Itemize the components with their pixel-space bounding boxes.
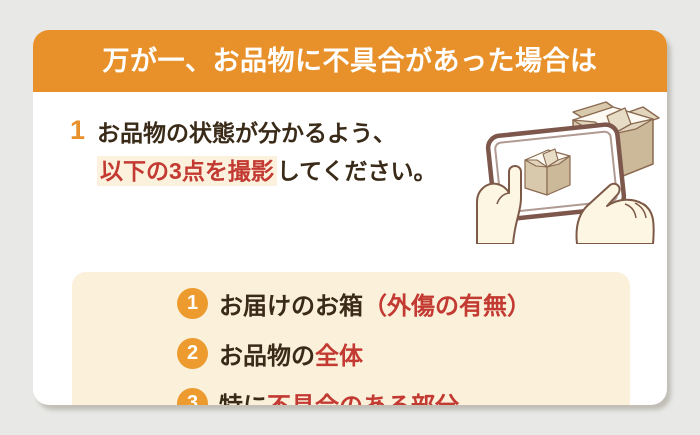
item-badge-1: 1 <box>177 288 208 319</box>
list-item: 1 お届けのお箱（外傷の有無） <box>72 278 630 328</box>
card-header: 万が一、お品物に不具合があった場合は <box>33 30 667 92</box>
step-line-2: 以下の3点を撮影してください。 <box>97 152 436 190</box>
item-badge-2: 2 <box>177 338 208 369</box>
list-item: 2 お品物の全体 <box>72 328 630 378</box>
item-text-3: 特に不具合のある部分 <box>219 386 459 406</box>
step-lines: お品物の状態が分かるよう、 以下の3点を撮影してください。 <box>97 114 436 190</box>
step-line-1: お品物の状態が分かるよう、 <box>97 114 436 152</box>
item-badge-3: 3 <box>177 388 208 406</box>
list-item: 3 特に不具合のある部分 <box>72 378 630 405</box>
item-text-2: お品物の全体 <box>219 336 363 371</box>
illustration-hands-tablet-box <box>473 94 663 244</box>
step-number: 1 <box>70 114 85 146</box>
card-body: 1 お品物の状態が分かるよう、 以下の3点を撮影してください。 1 お届けのお箱… <box>33 92 667 405</box>
item-3-accent: 不具合のある部分 <box>267 393 459 406</box>
step-1-block: 1 お品物の状態が分かるよう、 以下の3点を撮影してください。 <box>70 114 436 190</box>
item-1-plain-lead: お届けのお箱 <box>219 293 363 320</box>
item-3-plain-lead: 特に <box>219 393 267 406</box>
page-title: 万が一、お品物に不具合があった場合は <box>103 48 598 75</box>
info-card: 万が一、お品物に不具合があった場合は <box>33 30 667 405</box>
step-line-2-tail: してください。 <box>277 158 437 184</box>
step-highlight-text: 以下の3点を撮影 <box>97 156 277 186</box>
item-text-1: お届けのお箱（外傷の有無） <box>219 286 531 321</box>
item-1-accent: （外傷の有無） <box>363 293 531 320</box>
item-2-plain-lead: お品物の <box>219 343 315 370</box>
photo-items-panel: 1 お届けのお箱（外傷の有無） 2 お品物の全体 3 特に不具合のある部分 <box>72 272 630 405</box>
item-2-accent: 全体 <box>315 343 363 370</box>
